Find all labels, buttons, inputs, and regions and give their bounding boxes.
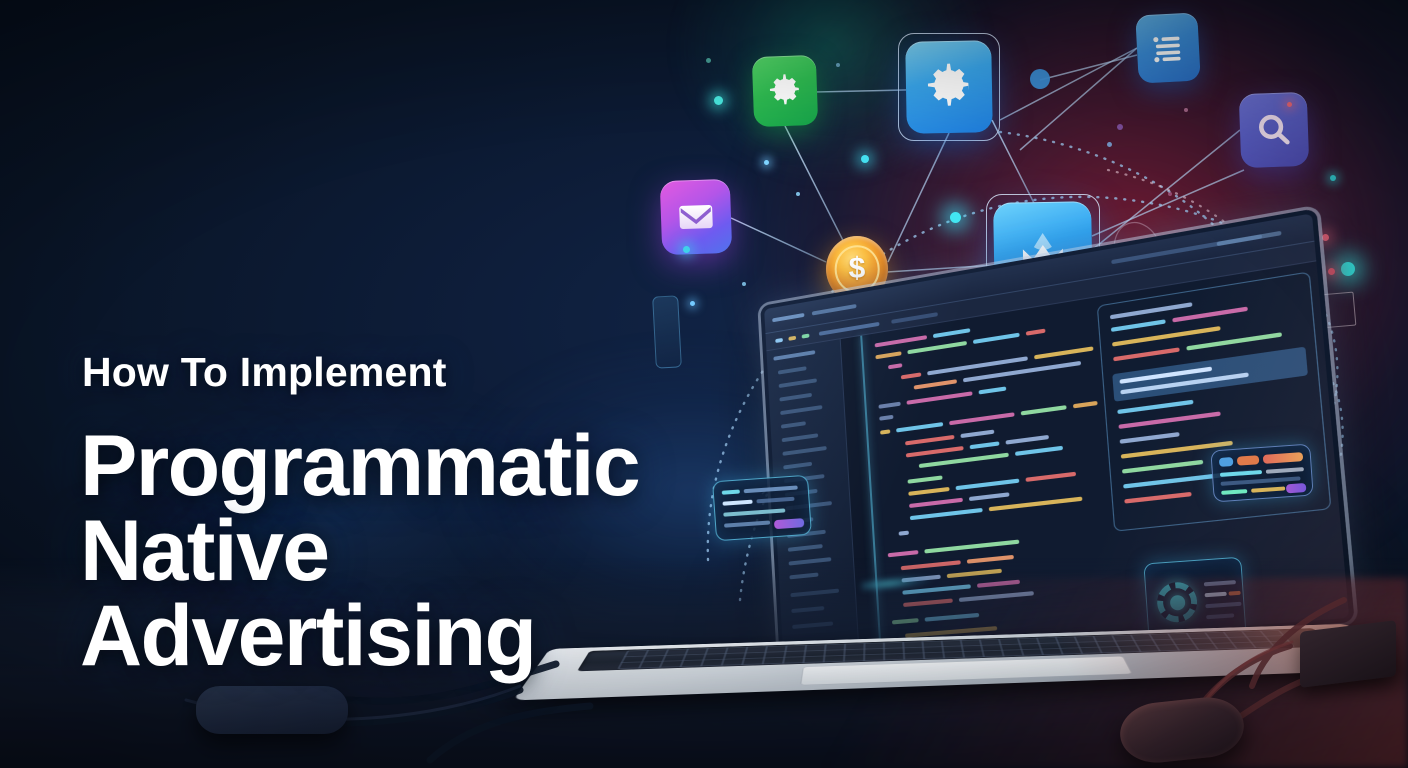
hero-title-line-1: Programmatic — [80, 424, 639, 509]
hero-title-line-3: Advertising — [80, 594, 639, 679]
hero-title: Programmatic Native Advertising — [80, 424, 639, 679]
hero-kicker: How To Implement — [82, 349, 447, 396]
hero-banner: $ — [0, 0, 1408, 768]
hero-title-line-2: Native — [80, 509, 639, 594]
